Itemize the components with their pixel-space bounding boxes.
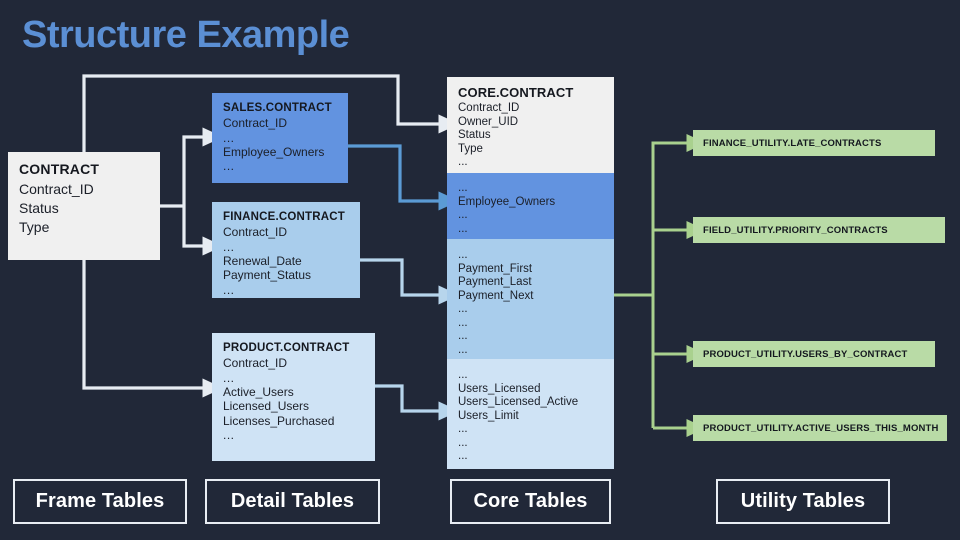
table-field: Status (19, 199, 160, 218)
legend-label: Utility Tables (741, 490, 865, 513)
table-field: Contract_ID (223, 116, 348, 131)
table-field: ... (458, 437, 614, 451)
table-field: Licensed_Users (223, 399, 375, 414)
utility-table-field-priority-contracts[interactable]: FIELD_UTILITY.PRIORITY_CONTRACTS (693, 217, 945, 243)
utility-table-product-users-by-contract[interactable]: PRODUCT_UTILITY.USERS_BY_CONTRACT (693, 341, 935, 367)
table-field: ... (223, 428, 375, 442)
table-field: Users_Limit (458, 410, 614, 424)
core-table-core-contract[interactable]: CORE.CONTRACT Contract_ID Owner_UID Stat… (447, 77, 614, 469)
utility-table-label: FIELD_UTILITY.PRIORITY_CONTRACTS (703, 225, 888, 236)
table-field: Type (458, 143, 614, 157)
table-field: Renewal_Date (223, 254, 360, 269)
table-header: SALES.CONTRACT (223, 100, 348, 116)
table-field: Payment_Next (458, 290, 614, 304)
core-section-product: ... Users_Licensed Users_Licensed_Active… (447, 359, 614, 469)
detail-table-product-contract[interactable]: PRODUCT.CONTRACT Contract_ID ... Active_… (212, 333, 375, 461)
table-field: ... (458, 156, 614, 170)
table-field: ... (223, 283, 360, 297)
detail-table-finance-contract[interactable]: FINANCE.CONTRACT Contract_ID ... Renewal… (212, 202, 360, 298)
table-field: Employee_Owners (223, 145, 348, 160)
legend-label: Detail Tables (231, 490, 354, 513)
table-field: ... (458, 369, 614, 383)
table-field: Contract_ID (458, 102, 614, 116)
table-field: ... (223, 240, 360, 254)
table-field: Active_Users (223, 385, 375, 400)
legend-core-tables[interactable]: Core Tables (450, 479, 611, 524)
table-header: CORE.CONTRACT (458, 84, 614, 102)
detail-table-sales-contract[interactable]: SALES.CONTRACT Contract_ID ... Employee_… (212, 93, 348, 183)
table-field: ... (458, 182, 614, 196)
table-field: Users_Licensed (458, 383, 614, 397)
table-header: PRODUCT.CONTRACT (223, 340, 375, 356)
table-field: Contract_ID (223, 225, 360, 240)
table-field: Contract_ID (19, 180, 160, 199)
table-field: Licenses_Purchased (223, 414, 375, 429)
table-field: ... (223, 131, 348, 145)
legend-utility-tables[interactable]: Utility Tables (716, 479, 890, 524)
utility-table-finance-late-contracts[interactable]: FINANCE_UTILITY.LATE_CONTRACTS (693, 130, 935, 156)
frame-table-contract[interactable]: CONTRACT Contract_ID Status Type (8, 152, 160, 260)
table-field: ... (458, 223, 614, 237)
diagram-canvas: Structure Example (0, 0, 960, 540)
legend-label: Core Tables (473, 490, 587, 513)
table-field: Payment_Last (458, 276, 614, 290)
table-field: Type (19, 218, 160, 237)
table-field: ... (223, 371, 375, 385)
table-field: ... (458, 249, 614, 263)
table-field: Employee_Owners (458, 196, 614, 210)
table-field: Owner_UID (458, 116, 614, 130)
legend-label: Frame Tables (36, 490, 165, 513)
table-field: ... (458, 303, 614, 317)
utility-table-label: PRODUCT_UTILITY.ACTIVE_USERS_THIS_MONTH (703, 423, 938, 434)
table-field: ... (458, 344, 614, 358)
core-section-sales: ... Employee_Owners ... ... (447, 173, 614, 239)
table-field: ... (458, 423, 614, 437)
utility-table-label: PRODUCT_UTILITY.USERS_BY_CONTRACT (703, 349, 907, 360)
legend-detail-tables[interactable]: Detail Tables (205, 479, 380, 524)
table-field: ... (458, 330, 614, 344)
table-field: Status (458, 129, 614, 143)
table-field: Payment_Status (223, 268, 360, 283)
utility-table-label: FINANCE_UTILITY.LATE_CONTRACTS (703, 138, 882, 149)
table-field: Users_Licensed_Active (458, 396, 614, 410)
core-section-identity: CORE.CONTRACT Contract_ID Owner_UID Stat… (447, 77, 614, 173)
table-field: ... (458, 450, 614, 464)
table-field: ... (458, 317, 614, 331)
table-header: CONTRACT (19, 159, 160, 180)
legend-frame-tables[interactable]: Frame Tables (13, 479, 187, 524)
table-field: ... (223, 159, 348, 173)
core-section-finance: ... Payment_First Payment_Last Payment_N… (447, 239, 614, 359)
utility-table-product-active-users-this-month[interactable]: PRODUCT_UTILITY.ACTIVE_USERS_THIS_MONTH (693, 415, 947, 441)
table-field: Contract_ID (223, 356, 375, 371)
table-header: FINANCE.CONTRACT (223, 209, 360, 225)
page-title: Structure Example (22, 14, 349, 57)
table-field: Payment_First (458, 263, 614, 277)
table-field: ... (458, 209, 614, 223)
